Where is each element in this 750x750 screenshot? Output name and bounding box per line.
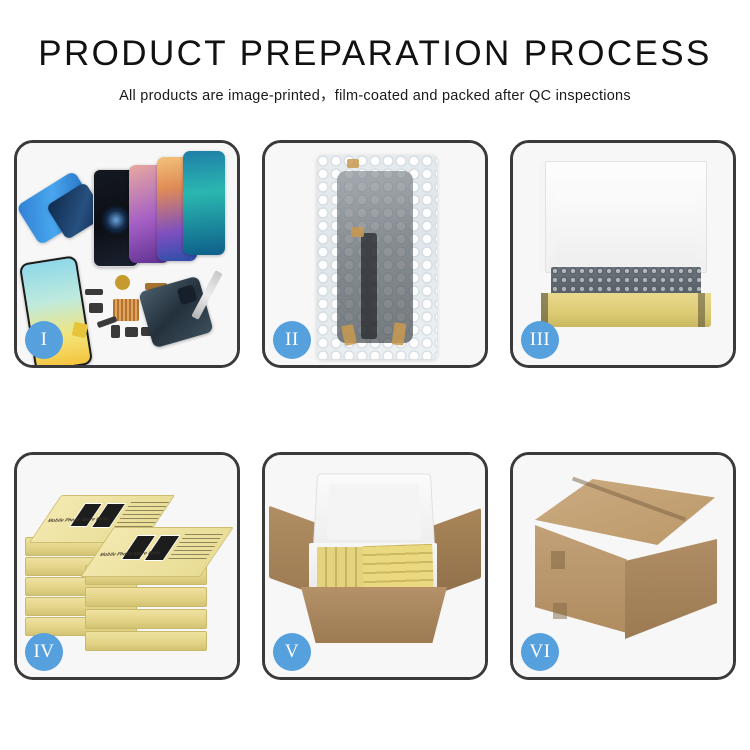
- process-step-panel-5: V: [262, 452, 488, 680]
- yellow-box-body-graphic: [541, 293, 711, 327]
- tape-top-graphic: [347, 159, 359, 168]
- step-badge-2: II: [273, 321, 311, 359]
- process-step-panel-3: III: [510, 140, 736, 368]
- process-step-panel-6: VI: [510, 452, 736, 680]
- step-badge-1: I: [25, 321, 63, 359]
- foam-lid-graphic: [313, 474, 436, 552]
- phone-teal-graphic: [183, 151, 225, 255]
- carton-top-face-graphic: [535, 479, 715, 545]
- yellow-part-graphic: [72, 322, 89, 339]
- stacked-box-graphic: [85, 631, 207, 651]
- carton-front-face-graphic: [535, 525, 627, 633]
- carton-tape-upper-graphic: [551, 551, 565, 569]
- carton-side-face-graphic: [625, 539, 717, 639]
- step-badge-6: VI: [521, 633, 559, 671]
- speaker-part-graphic: [115, 275, 130, 290]
- page-subtitle: All products are image-printed，film-coat…: [0, 84, 750, 105]
- step-badge-4: IV: [25, 633, 63, 671]
- foam-sheet-graphic: [555, 191, 697, 265]
- page-title: PRODUCT PREPARATION PROCESS: [0, 36, 750, 73]
- small-part-graphic: [85, 289, 103, 295]
- tape-mid-graphic: [351, 227, 364, 237]
- step-badge-3: III: [521, 321, 559, 359]
- process-steps-grid: I II: [14, 140, 736, 680]
- wrapped-flex-cable-graphic: [361, 233, 377, 339]
- product-preparation-infographic: PRODUCT PREPARATION PROCESS All products…: [0, 0, 750, 750]
- process-step-panel-1: I: [14, 140, 240, 368]
- header: PRODUCT PREPARATION PROCESS All products…: [0, 36, 750, 105]
- carton-body-graphic: [301, 587, 447, 643]
- bubble-wrap-bag-graphic: [317, 155, 437, 359]
- camera-part-graphic: [125, 327, 138, 337]
- foam-lid-inner-graphic: [327, 484, 422, 540]
- connector-part-graphic: [89, 303, 103, 313]
- step-badge-5: V: [273, 633, 311, 671]
- process-step-panel-4: Mobile Phone Spare Parts Mobile Phone Sp…: [14, 452, 240, 680]
- stacked-box-graphic: [85, 609, 207, 629]
- copper-shield-part-graphic: [113, 299, 139, 321]
- stacked-box-graphic: [85, 587, 207, 607]
- chip-part-graphic: [111, 325, 120, 338]
- carton-tape-lower-graphic: [553, 603, 567, 619]
- process-step-panel-2: II: [262, 140, 488, 368]
- box-edge-right-graphic: [698, 293, 705, 327]
- packed-boxes-2-graphic: [362, 544, 433, 590]
